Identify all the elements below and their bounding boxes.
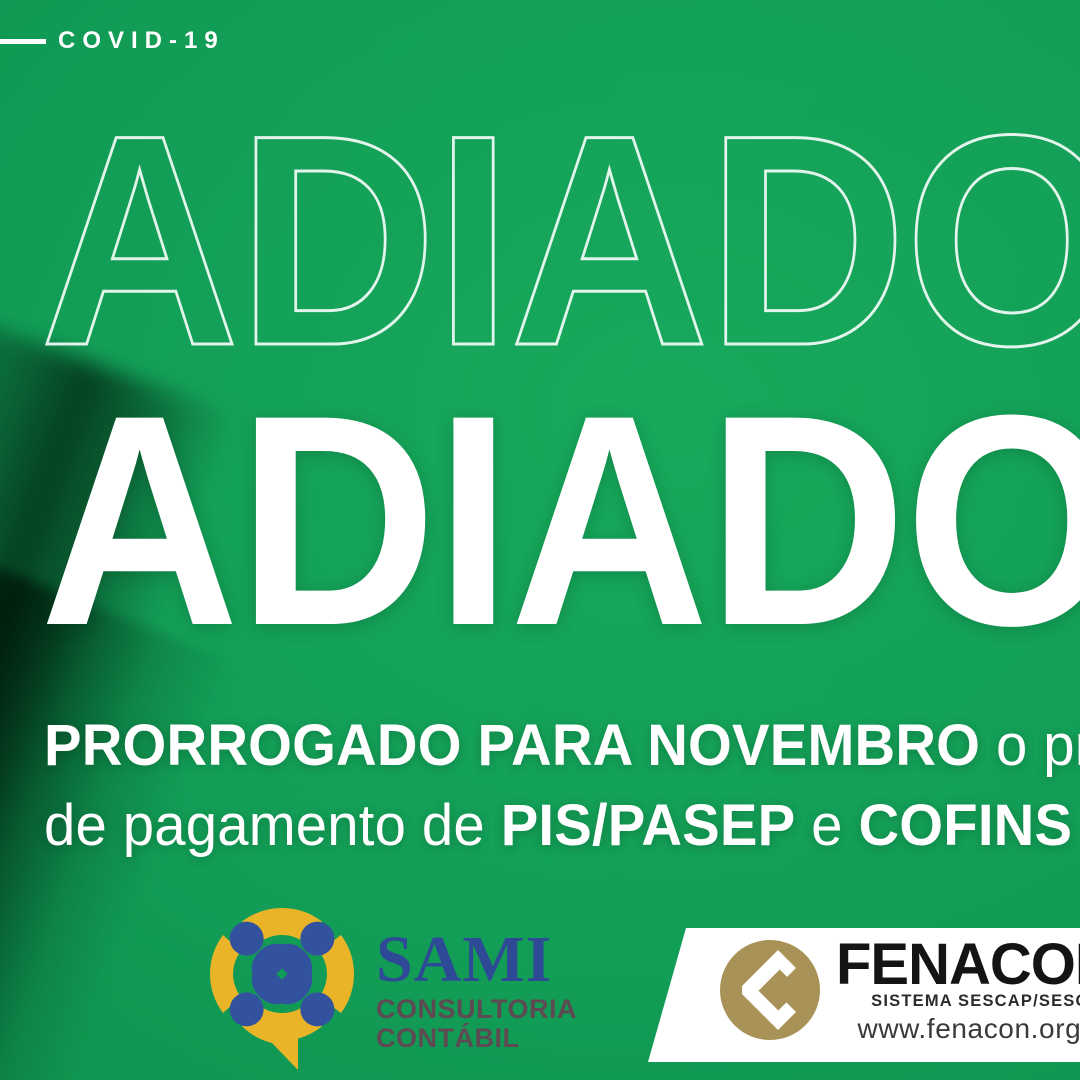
subheadline-bold-pispasep: PIS/PASEP bbox=[501, 793, 796, 858]
fenacon-logo: FENACON SISTEMA SESCAP/SESCON www.fenaco… bbox=[718, 934, 1080, 1045]
sami-logo[interactable]: SAMI CONSULTORIA CONTÁBIL bbox=[202, 902, 577, 1074]
fenacon-system: SISTEMA SESCAP/SESCON bbox=[836, 992, 1080, 1011]
sami-logo-text: SAMI CONSULTORIA CONTÁBIL bbox=[376, 923, 577, 1054]
covid-kicker: COVID-19 bbox=[0, 27, 225, 55]
covid-kicker-label: COVID-19 bbox=[58, 27, 225, 55]
sami-tagline: CONSULTORIA CONTÁBIL bbox=[376, 995, 577, 1053]
people-circle-speech-bubble-icon bbox=[202, 902, 362, 1074]
sami-tagline-line-1: CONSULTORIA bbox=[376, 995, 577, 1024]
subheadline: PRORROGADO PARA NOVEMBRO o prazo de paga… bbox=[44, 706, 994, 866]
sami-name: SAMI bbox=[376, 929, 577, 992]
horizontal-rule-icon bbox=[0, 39, 46, 44]
subheadline-line-1: PRORROGADO PARA NOVEMBRO o prazo bbox=[44, 706, 966, 786]
fenacon-logo-panel[interactable]: FENACON SISTEMA SESCAP/SESCON www.fenaco… bbox=[648, 928, 1080, 1062]
subheadline-bold-cofins: COFINS bbox=[858, 793, 1072, 858]
fenacon-url[interactable]: www.fenacon.org.br bbox=[836, 1013, 1080, 1045]
subheadline-line-2: de pagamento de PIS/PASEP e COFINS bbox=[44, 786, 966, 866]
fenacon-circle-f-icon bbox=[718, 938, 822, 1042]
subheadline-light-oprazo: o prazo bbox=[996, 713, 1080, 778]
subheadline-bold-prorrogado: PRORROGADO PARA NOVEMBRO bbox=[44, 713, 980, 778]
headline-solid: ADIADO bbox=[40, 400, 1080, 640]
fenacon-name: FENACON bbox=[836, 938, 1080, 991]
subheadline-light-pagamento: de pagamento de bbox=[44, 793, 485, 858]
foreground-content: COVID-19 ADIADO ADIADO PRORROGADO PARA N… bbox=[0, 0, 1080, 1080]
poster-canvas: March 2 M T W Th F S S 1 2 3 4 5 6 7 8 9 bbox=[0, 0, 1080, 1080]
subheadline-light-e: e bbox=[811, 793, 842, 858]
fenacon-logo-text: FENACON SISTEMA SESCAP/SESCON www.fenaco… bbox=[836, 934, 1080, 1045]
headline-outline: ADIADO bbox=[40, 120, 1080, 360]
sami-tagline-line-2: CONTÁBIL bbox=[376, 1024, 577, 1053]
